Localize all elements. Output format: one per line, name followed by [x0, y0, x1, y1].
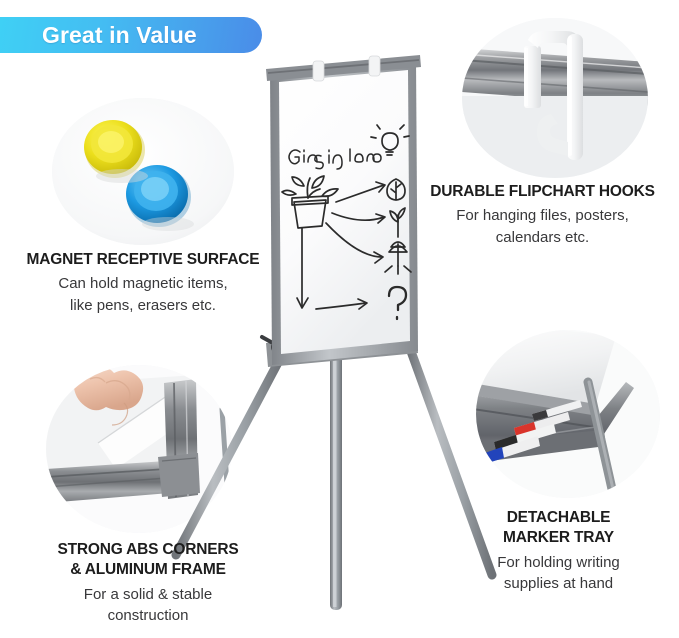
feature-desc-line2: calendars etc.	[406, 227, 679, 248]
infographic-page: Great in Value	[0, 0, 679, 638]
feature-title: DURABLE FLIPCHART HOOKS	[406, 182, 679, 202]
feature-title-line1: STRONG ABS CORNERS	[8, 540, 288, 560]
feature-strong-abs-corners: STRONG ABS CORNERS & ALUMINUM FRAME For …	[8, 540, 288, 627]
feature-title-line2: MARKER TRAY	[442, 528, 675, 548]
feature-desc-line2: supplies at hand	[442, 573, 675, 594]
feature-magnet-receptive-surface: MAGNET RECEPTIVE SURFACE Can hold magnet…	[0, 250, 286, 316]
feature-desc-line1: For holding writing	[442, 552, 675, 573]
great-in-value-banner: Great in Value	[0, 17, 262, 53]
feature-title-line2: & ALUMINUM FRAME	[8, 560, 288, 580]
feature-desc-line1: Can hold magnetic items,	[0, 273, 286, 294]
feature-desc-line2: like pens, erasers etc.	[0, 295, 286, 316]
feature-desc-line1: For hanging files, posters,	[406, 205, 679, 226]
feature-durable-flipchart-hooks: DURABLE FLIPCHART HOOKS For hanging file…	[406, 182, 679, 248]
banner-label: Great in Value	[42, 22, 197, 49]
feature-desc-line2: construction	[8, 605, 288, 626]
feature-desc-line1: For a solid & stable	[8, 584, 288, 605]
feature-detachable-marker-tray: DETACHABLE MARKER TRAY For holding writi…	[442, 508, 675, 595]
feature-title-line1: DETACHABLE	[442, 508, 675, 528]
feature-title: MAGNET RECEPTIVE SURFACE	[0, 250, 286, 270]
